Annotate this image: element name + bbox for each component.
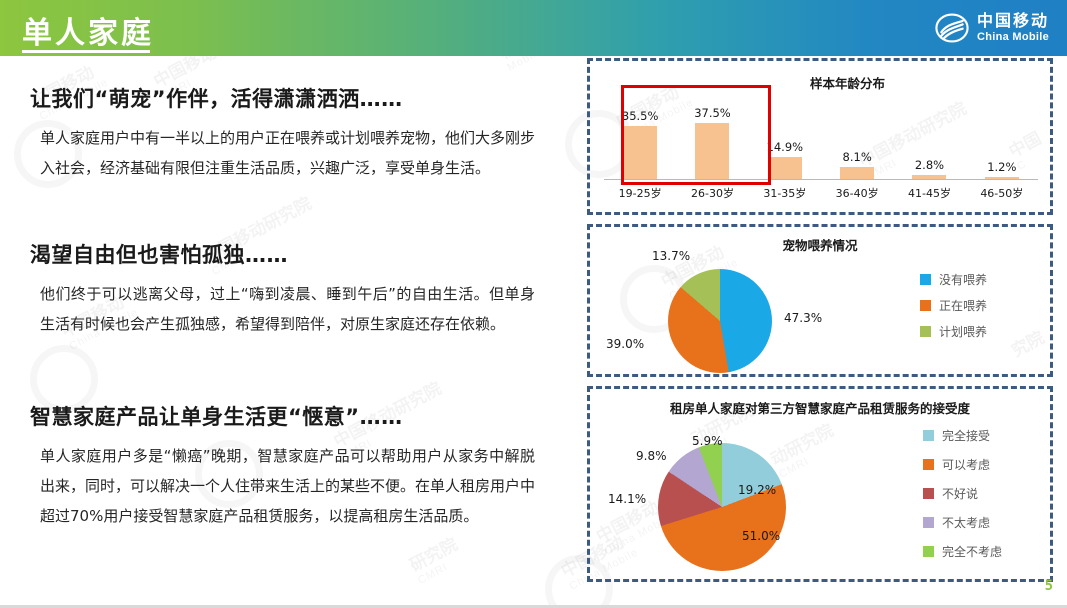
pie-value-label: 13.7% bbox=[652, 249, 690, 263]
bar-rect bbox=[840, 167, 874, 179]
page-header: 单人家庭 中国移动 China Mobile bbox=[0, 0, 1067, 56]
legend-swatch-icon bbox=[923, 488, 934, 499]
legend-label: 不好说 bbox=[942, 485, 978, 502]
legend-item[interactable]: 正在喂养 bbox=[920, 297, 987, 314]
bar-category-label: 26-30岁 bbox=[681, 185, 743, 201]
bar-category-label: 31-35岁 bbox=[754, 185, 816, 201]
legend-swatch-icon bbox=[920, 326, 931, 337]
bar-category-label: 36-40岁 bbox=[826, 185, 888, 201]
pie-value-label: 51.0% bbox=[742, 529, 780, 543]
bar-rect bbox=[768, 157, 802, 179]
legend-label: 没有喂养 bbox=[939, 271, 987, 288]
legend-item[interactable]: 计划喂养 bbox=[920, 323, 987, 340]
page-number: 5 bbox=[1045, 578, 1053, 594]
legend-swatch-icon bbox=[923, 430, 934, 441]
block-heading: 智慧家庭产品让单身生活更“惬意”…… bbox=[30, 401, 575, 431]
legend-label: 计划喂养 bbox=[939, 323, 987, 340]
pie-chart-pet-feeding bbox=[668, 269, 772, 373]
bar-value-label: 14.9% bbox=[767, 140, 804, 154]
pie-value-label: 14.1% bbox=[608, 492, 646, 506]
legend-swatch-icon bbox=[920, 300, 931, 311]
block-paragraph: 单人家庭用户多是“懒癌”晚期，智慧家庭产品可以帮助用户从家务中解脱出来，同时，可… bbox=[40, 441, 535, 531]
bar-chart-category-labels: 19-25岁26-30岁31-35岁36-40岁41-45岁46-50岁 bbox=[604, 185, 1038, 201]
legend-swatch-icon bbox=[920, 274, 931, 285]
legend-label: 完全不考虑 bbox=[942, 543, 1002, 560]
left-content-column: 让我们“萌宠”作伴，活得潇潇洒洒…… 单人家庭用户中有一半以上的用户正在喂养或计… bbox=[0, 56, 575, 596]
legend-item[interactable]: 完全不考虑 bbox=[923, 543, 1002, 560]
pie-value-label: 39.0% bbox=[606, 337, 644, 351]
legend-swatch-icon bbox=[923, 459, 934, 470]
pie-value-label: 9.8% bbox=[636, 449, 667, 463]
chart-panel-age-distribution: 样本年龄分布 35.5%37.5%14.9%8.1%2.8%1.2% 19-25… bbox=[587, 58, 1053, 215]
bar-value-label: 1.2% bbox=[987, 160, 1016, 174]
legend-item[interactable]: 没有喂养 bbox=[920, 271, 987, 288]
page-title: 单人家庭 bbox=[22, 8, 154, 52]
brand-logo: 中国移动 China Mobile bbox=[935, 11, 1049, 45]
bar-column: 1.2% bbox=[971, 95, 1033, 179]
china-mobile-swoosh-icon bbox=[935, 11, 969, 45]
chart-panel-pet-feeding: 宠物喂养情况 47.3% 39.0% 13.7% 没有喂养正在喂养计划喂养 bbox=[587, 224, 1053, 377]
legend-item[interactable]: 不太考虑 bbox=[923, 514, 1002, 531]
legend-label: 正在喂养 bbox=[939, 297, 987, 314]
pie-chart-rental-acceptance bbox=[658, 443, 786, 571]
bar-category-label: 41-45岁 bbox=[898, 185, 960, 201]
pie-value-label: 47.3% bbox=[784, 311, 822, 325]
legend-item[interactable]: 可以考虑 bbox=[923, 456, 1002, 473]
legend-swatch-icon bbox=[923, 546, 934, 557]
chart-title: 租房单人家庭对第三方智慧家庭产品租赁服务的接受度 bbox=[590, 398, 1050, 417]
highlight-rectangle bbox=[621, 85, 771, 185]
legend-label: 不太考虑 bbox=[942, 514, 990, 531]
content-block: 让我们“萌宠”作伴，活得潇潇洒洒…… 单人家庭用户中有一半以上的用户正在喂养或计… bbox=[0, 83, 575, 183]
legend-swatch-icon bbox=[923, 517, 934, 528]
bar-category-label: 19-25岁 bbox=[609, 185, 671, 201]
legend-item[interactable]: 完全接受 bbox=[923, 427, 1002, 444]
legend-label: 可以考虑 bbox=[942, 456, 990, 473]
logo-text-cn: 中国移动 bbox=[977, 13, 1049, 29]
bar-value-label: 8.1% bbox=[843, 150, 872, 164]
pie-value-label: 5.9% bbox=[692, 434, 723, 448]
block-heading: 让我们“萌宠”作伴，活得潇潇洒洒…… bbox=[30, 83, 575, 113]
title-underline bbox=[22, 50, 150, 53]
chart-panel-rental-acceptance: 租房单人家庭对第三方智慧家庭产品租赁服务的接受度 19.2% 51.0% 14.… bbox=[587, 386, 1053, 582]
content-block: 渴望自由但也害怕孤独…… 他们终于可以逃离父母，过上“嗨到凌晨、睡到午后”的自由… bbox=[0, 239, 575, 339]
chart-legend: 完全接受可以考虑不好说不太考虑完全不考虑 bbox=[923, 427, 1002, 572]
block-heading: 渴望自由但也害怕孤独…… bbox=[30, 239, 575, 269]
legend-item[interactable]: 不好说 bbox=[923, 485, 1002, 502]
pie-value-label: 19.2% bbox=[738, 483, 776, 497]
block-paragraph: 他们终于可以逃离父母，过上“嗨到凌晨、睡到午后”的自由生活。但单身生活有时候也会… bbox=[40, 279, 535, 339]
chart-legend: 没有喂养正在喂养计划喂养 bbox=[920, 271, 987, 349]
bar-category-label: 46-50岁 bbox=[971, 185, 1033, 201]
bar-value-label: 2.8% bbox=[915, 158, 944, 172]
legend-label: 完全接受 bbox=[942, 427, 990, 444]
bar-column: 2.8% bbox=[898, 95, 960, 179]
block-paragraph: 单人家庭用户中有一半以上的用户正在喂养或计划喂养宠物，他们大多刚步入社会，经济基… bbox=[40, 123, 535, 183]
content-block: 智慧家庭产品让单身生活更“惬意”…… 单人家庭用户多是“懒癌”晚期，智慧家庭产品… bbox=[0, 401, 575, 531]
logo-text-en: China Mobile bbox=[977, 32, 1049, 43]
bar-column: 8.1% bbox=[826, 95, 888, 179]
